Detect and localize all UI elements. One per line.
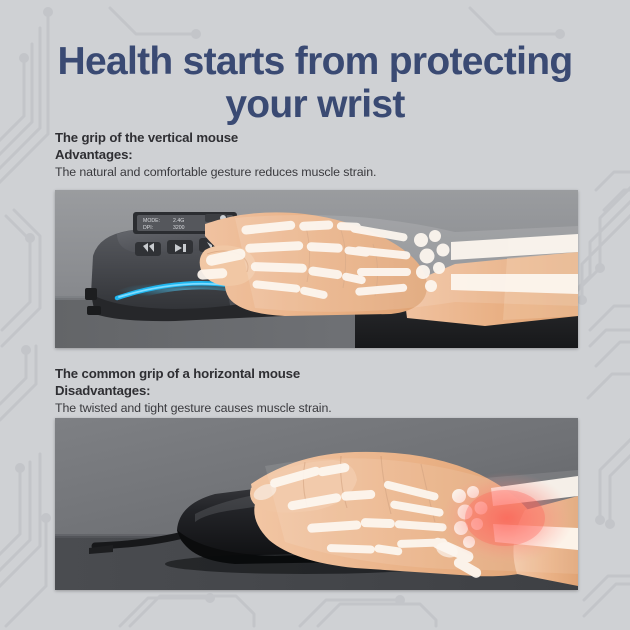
section-vertical-mouse-text: The grip of the vertical mouse Advantage… (55, 130, 376, 181)
svg-text:DPI:: DPI: (143, 225, 153, 231)
page-title-line-2: your wrist (0, 83, 630, 126)
svg-text:3200: 3200 (173, 225, 185, 231)
photo-vertical-mouse-grip: MODE: 2.4G DPI: 3200 (55, 190, 578, 348)
section-horizontal-mouse-subheading: Disadvantages: (55, 383, 332, 400)
page-title-line-1: Health starts from protecting (0, 40, 630, 83)
svg-text:MODE:: MODE: (143, 218, 160, 224)
section-horizontal-mouse-heading: The common grip of a horizontal mouse (55, 366, 332, 383)
page-title: Health starts from protecting your wrist (0, 40, 630, 126)
section-horizontal-mouse-body: The twisted and tight gesture causes mus… (55, 399, 332, 417)
section-vertical-mouse-body: The natural and comfortable gesture redu… (55, 163, 376, 181)
infographic-page: Health starts from protecting your wrist… (0, 0, 630, 630)
svg-text:2.4G: 2.4G (173, 218, 184, 224)
section-horizontal-mouse-text: The common grip of a horizontal mouse Di… (55, 366, 332, 417)
section-vertical-mouse-heading: The grip of the vertical mouse (55, 130, 376, 147)
section-vertical-mouse-subheading: Advantages: (55, 147, 376, 164)
photo-horizontal-mouse-grip (55, 418, 578, 590)
